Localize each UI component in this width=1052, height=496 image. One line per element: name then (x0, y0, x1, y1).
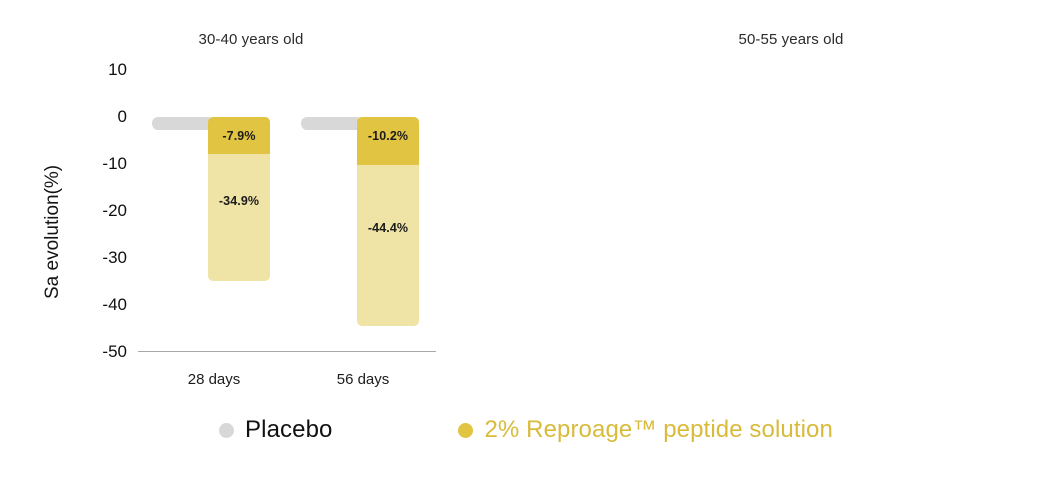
y-axis-tick-label: -50 (102, 342, 127, 362)
y-axis-tick-label: -10 (102, 154, 127, 174)
panel-title: 50-55 years old (558, 31, 1024, 48)
legend-swatch-circle-icon (458, 423, 473, 438)
bar-value-label: -7.9% (208, 129, 270, 143)
chart-panel-50-55: 50-55 years old Sa evolution(%) 100-10-2… (586, 0, 1052, 400)
bar-value-label: -34.9% (208, 194, 270, 208)
bar-placebo[interactable] (301, 117, 363, 130)
y-axis-tick-label: -20 (102, 201, 127, 221)
legend-label: Placebo (245, 416, 332, 444)
y-axis-tick-label: -40 (102, 295, 127, 315)
legend-item-reproage[interactable]: 2% Reproage™ peptide solution (458, 416, 832, 444)
y-axis-tick-label: -30 (102, 248, 127, 268)
plot-area-left: 100-10-20-30-40-50-7.9%-34.9%28 days-10.… (138, 70, 436, 352)
chart-legend: Placebo 2% Reproage™ peptide solution (0, 404, 1052, 456)
legend-swatch-circle-icon (219, 423, 234, 438)
panel-title: 30-40 years old (0, 31, 514, 48)
bar-reproage-upper[interactable]: -7.9% (208, 117, 270, 154)
legend-label: 2% Reproage™ peptide solution (484, 416, 832, 444)
bar-placebo[interactable] (152, 117, 214, 130)
chart-panel-30-40: 30-40 years old Sa evolution(%) 100-10-2… (0, 0, 526, 400)
bar-value-label: -10.2% (357, 129, 419, 143)
bar-group: -7.9%-34.9%28 days (138, 70, 287, 352)
bar-reproage-upper[interactable]: -10.2% (357, 117, 419, 165)
bar-group: -10.2%-44.4%56 days (287, 70, 436, 352)
chart-container: 30-40 years old Sa evolution(%) 100-10-2… (0, 0, 1052, 496)
y-axis-tick-label: 10 (108, 60, 127, 80)
legend-item-placebo[interactable]: Placebo (219, 416, 332, 444)
bar-value-label: -44.4% (357, 221, 419, 235)
y-axis-title: Sa evolution(%) (42, 165, 64, 299)
x-axis-tick-label: 28 days (188, 371, 241, 388)
y-axis-tick-label: 0 (118, 107, 127, 127)
x-axis-tick-label: 56 days (337, 371, 390, 388)
